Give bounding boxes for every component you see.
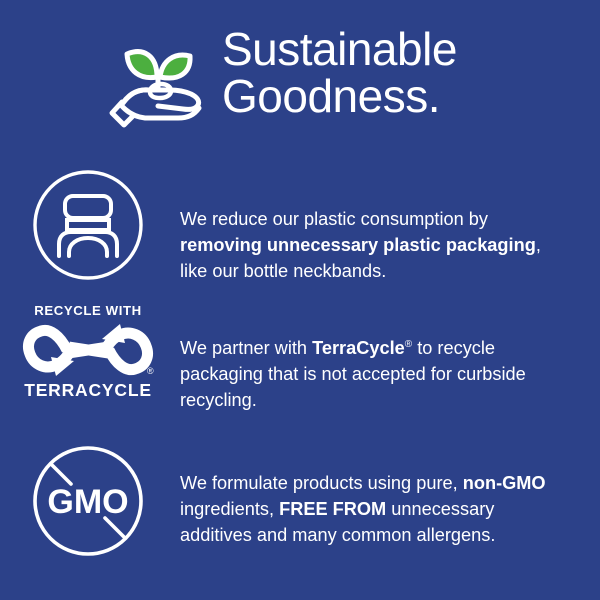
feature-text-plastic: We reduce our plastic consumption by rem… bbox=[170, 186, 560, 284]
terracycle-top-label: RECYCLE WITH bbox=[34, 303, 142, 319]
gmo-label: GMO bbox=[47, 483, 128, 521]
feature-text-terracycle: We partner with TerraCycle® to recycle p… bbox=[170, 323, 560, 413]
sustainable-goodness-infographic: Sustainable Goodness. We reduce our pl bbox=[0, 0, 600, 600]
feature-row-plastic: We reduce our plastic consumption by rem… bbox=[0, 168, 600, 288]
header: Sustainable Goodness. bbox=[0, 24, 600, 144]
bottle-neckband-circle-icon bbox=[31, 168, 145, 282]
feature-row-terracycle: RECYCLE WITH ® bbox=[0, 305, 600, 423]
feature-text-gmo: We formulate products using pure, non-GM… bbox=[170, 462, 560, 548]
text-segment-bold: TerraCycle bbox=[312, 338, 405, 358]
page-title: Sustainable Goodness. bbox=[222, 24, 457, 120]
hand-holding-sprout-icon bbox=[108, 30, 212, 134]
text-segment: We partner with bbox=[180, 338, 312, 358]
feature-badge-terracycle: RECYCLE WITH ® bbox=[0, 305, 170, 400]
no-gmo-circle-icon: GMO bbox=[31, 444, 145, 558]
text-segment: We formulate products using pure, bbox=[180, 473, 463, 493]
terracycle-logo: RECYCLE WITH ® bbox=[18, 303, 158, 400]
text-segment-bold: removing unnecessary plastic packaging bbox=[180, 235, 536, 255]
feature-badge-plastic bbox=[0, 168, 170, 282]
text-segment-bold: FREE FROM bbox=[279, 499, 386, 519]
text-segment-bold: non-GMO bbox=[463, 473, 546, 493]
registered-trademark-symbol: ® bbox=[147, 366, 154, 376]
terracycle-bottom-label: TERRACYCLE bbox=[24, 380, 152, 400]
text-segment: We reduce our plastic consumption by bbox=[180, 209, 488, 229]
text-segment: ingredients, bbox=[180, 499, 279, 519]
infinity-recycle-arrows-icon: ® bbox=[22, 322, 154, 378]
feature-row-gmo: GMO We formulate products using pure, no… bbox=[0, 444, 600, 569]
feature-badge-gmo: GMO bbox=[0, 444, 170, 558]
